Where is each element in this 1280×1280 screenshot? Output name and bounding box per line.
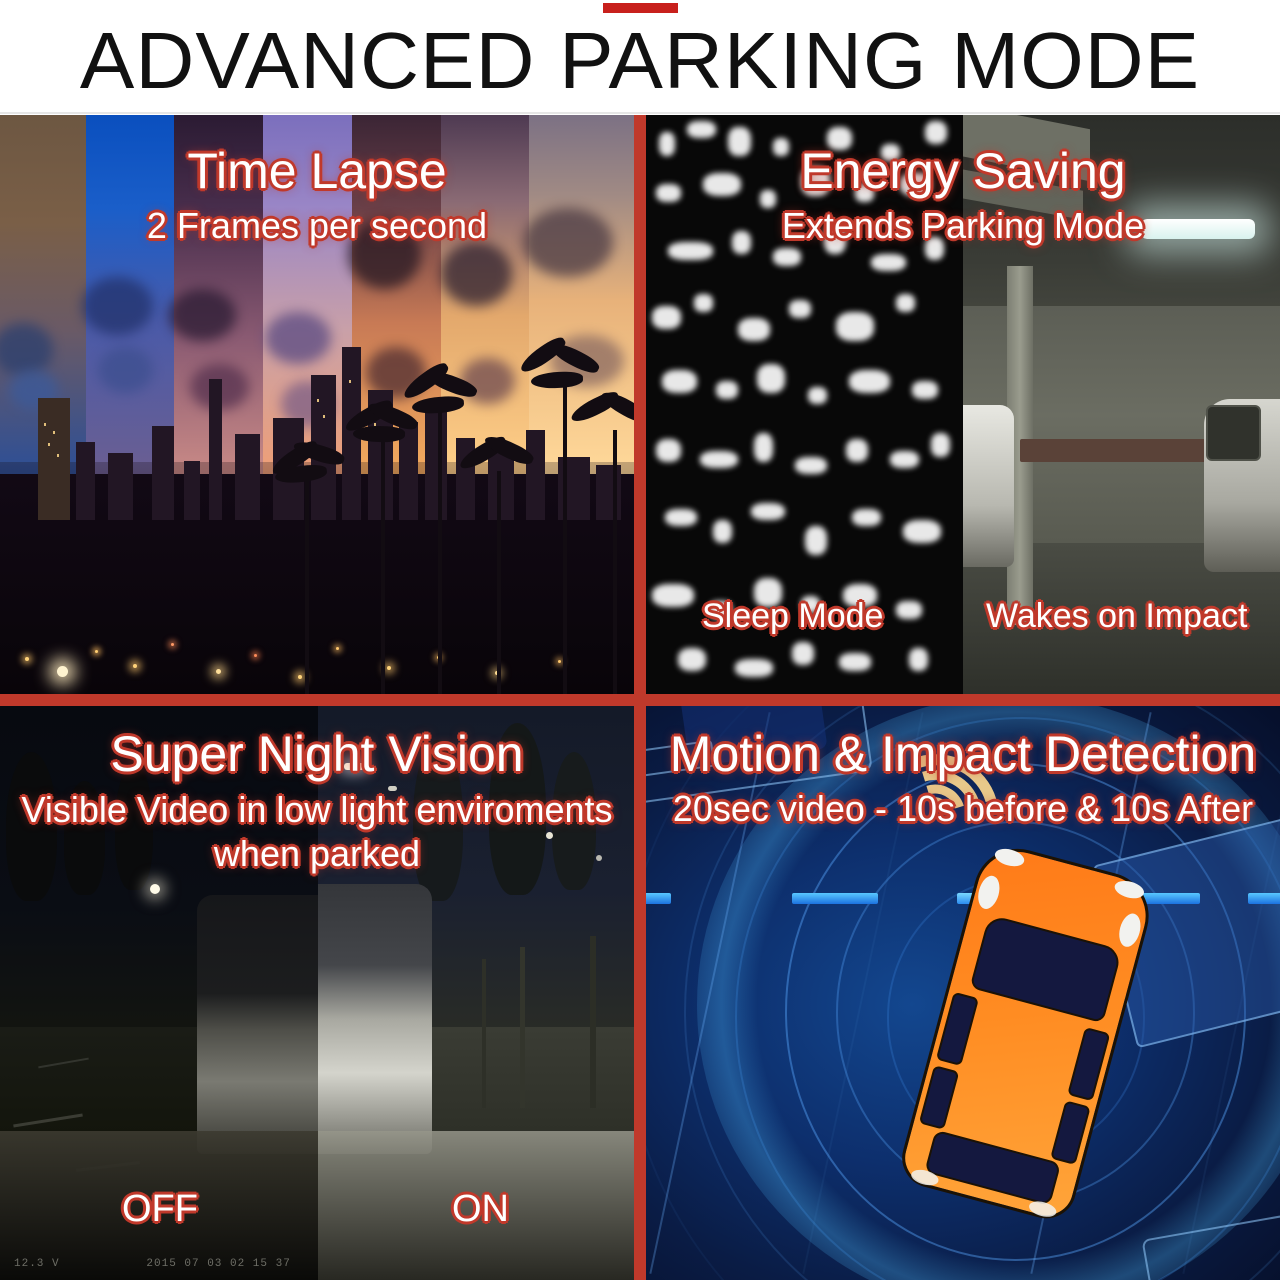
panel-motion-impact[interactable]: Motion & Impact Detection 20sec video - …	[646, 706, 1280, 1280]
voltage-stamp: 12.3 V	[14, 1258, 60, 1270]
header-divider	[0, 112, 1280, 114]
panel-night-vision[interactable]: 12.3 V 2015 07 03 02 15 37	[0, 706, 634, 1280]
garage-car-left	[963, 405, 1014, 567]
night-vision-subtitle: Visible Video in low light enviroments w…	[0, 788, 634, 876]
night-vision-title: Super Night Vision	[0, 726, 634, 782]
wakes-on-impact-label: Wakes on Impact	[986, 597, 1247, 636]
motion-impact-subtitle: 20sec video - 10s before & 10s After	[646, 788, 1280, 830]
sleep-mode-label: Sleep Mode	[702, 597, 883, 636]
vehicle-ahead-on	[318, 884, 432, 1154]
night-vision-off-label: OFF	[122, 1188, 198, 1231]
time-lapse-scene	[0, 115, 634, 694]
energy-saving-title: Energy Saving	[646, 143, 1280, 199]
night-vision-on-label: ON	[452, 1188, 509, 1231]
page-title: ADVANCED PARKING MODE	[0, 18, 1280, 104]
page-header: ADVANCED PARKING MODE	[0, 0, 1280, 115]
time-lapse-title: Time Lapse	[0, 143, 634, 199]
panel-energy-saving[interactable]: Energy Saving Extends Parking Mode Sleep…	[646, 115, 1280, 694]
vehicle-ahead-off	[197, 895, 318, 1153]
grid-divider-horizontal	[0, 694, 1280, 706]
motion-impact-title: Motion & Impact Detection	[646, 726, 1280, 782]
time-lapse-subtitle: 2 Frames per second	[0, 205, 634, 247]
timestamp-stamp: 2015 07 03 02 15 37	[146, 1258, 290, 1270]
infographic-page: ADVANCED PARKING MODE	[0, 0, 1280, 1280]
header-accent-rule	[603, 3, 678, 13]
feature-grid: Time Lapse 2 Frames per second	[0, 115, 1280, 1280]
panel-time-lapse[interactable]: Time Lapse 2 Frames per second	[0, 115, 634, 694]
energy-saving-subtitle: Extends Parking Mode	[646, 205, 1280, 247]
